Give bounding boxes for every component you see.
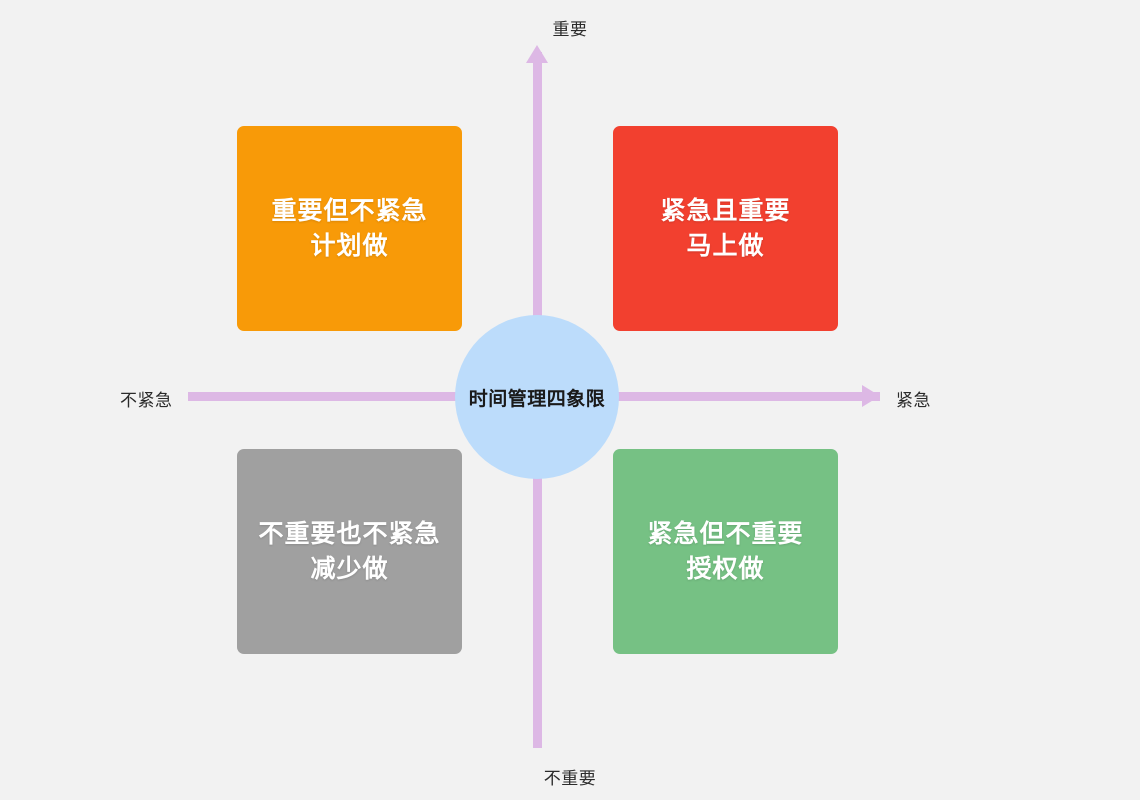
center-circle-label: 时间管理四象限 [469, 384, 606, 411]
quadrant-title: 不重要也不紧急 [258, 517, 440, 552]
quadrant-title: 紧急但不重要 [647, 517, 803, 552]
axis-label-not-urgent: 不紧急 [120, 386, 173, 411]
center-circle[interactable]: 时间管理四象限 [455, 315, 619, 479]
quadrant-title: 紧急且重要 [660, 194, 790, 229]
quadrant-action: 计划做 [310, 229, 388, 264]
axis-label-important: 重要 [0, 15, 1140, 40]
quadrant-important-not-urgent[interactable]: 重要但不紧急 计划做 [237, 126, 462, 331]
quadrant-urgent-important[interactable]: 紧急且重要 马上做 [613, 126, 838, 331]
arrow-up-icon [526, 45, 548, 63]
quadrant-action: 授权做 [686, 552, 764, 587]
time-management-matrix-diagram: 重要 不重要 不紧急 紧急 重要但不紧急 计划做 紧急且重要 马上做 不重要也不… [0, 0, 1140, 800]
quadrant-action: 减少做 [310, 552, 388, 587]
axis-label-urgent: 紧急 [896, 386, 931, 411]
quadrant-urgent-not-important[interactable]: 紧急但不重要 授权做 [613, 449, 838, 654]
arrow-right-icon [862, 385, 880, 407]
axis-label-not-important: 不重要 [0, 764, 1140, 789]
quadrant-not-important-not-urgent[interactable]: 不重要也不紧急 减少做 [237, 449, 462, 654]
quadrant-action: 马上做 [686, 229, 764, 264]
quadrant-title: 重要但不紧急 [271, 194, 427, 229]
